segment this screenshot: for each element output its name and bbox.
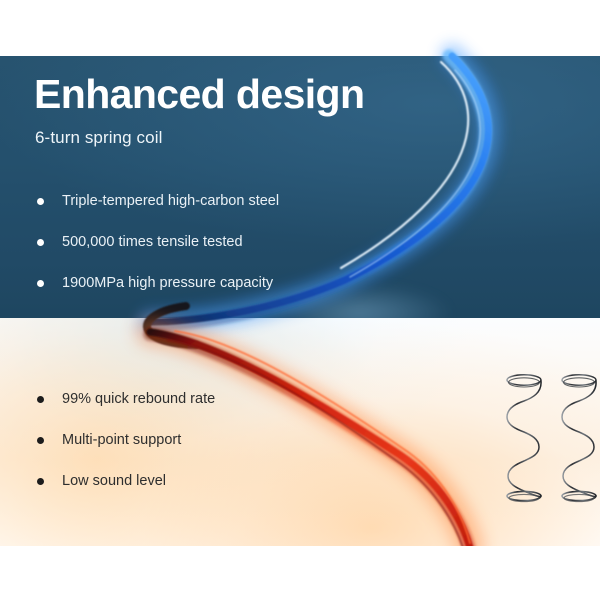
list-item: Low sound level: [37, 461, 215, 502]
bullet-dot-icon: [37, 239, 44, 246]
lower-feature-list: 99% quick rebound rate Multi-point suppo…: [37, 379, 215, 502]
list-item-label: 500,000 times tensile tested: [62, 234, 243, 250]
bottom-white-band: [0, 546, 600, 600]
list-item-label: Multi-point support: [62, 432, 181, 448]
top-white-band: [0, 0, 600, 56]
upper-feature-list: Triple-tempered high-carbon steel 500,00…: [37, 181, 279, 304]
list-item-label: 99% quick rebound rate: [62, 391, 215, 407]
list-item: 1900MPa high pressure capacity: [37, 263, 279, 304]
bullet-dot-icon: [37, 396, 44, 403]
bullet-dot-icon: [37, 437, 44, 444]
list-item-label: 1900MPa high pressure capacity: [62, 275, 273, 291]
page-subtitle: 6-turn spring coil: [35, 128, 162, 148]
product-feature-infographic: Enhanced design 6-turn spring coil Tripl…: [0, 0, 600, 600]
list-item: Multi-point support: [37, 420, 215, 461]
list-item-label: Low sound level: [62, 473, 166, 489]
list-item: 99% quick rebound rate: [37, 379, 215, 420]
list-item: 500,000 times tensile tested: [37, 222, 279, 263]
bullet-dot-icon: [37, 198, 44, 205]
page-title: Enhanced design: [34, 74, 364, 115]
hourglass-spring-coil: [507, 375, 541, 502]
bullet-dot-icon: [37, 280, 44, 287]
list-item: Triple-tempered high-carbon steel: [37, 181, 279, 222]
hourglass-spring-coil: [562, 375, 596, 502]
list-item-label: Triple-tempered high-carbon steel: [62, 193, 279, 209]
bullet-dot-icon: [37, 478, 44, 485]
spring-coil-group: [498, 368, 600, 508]
